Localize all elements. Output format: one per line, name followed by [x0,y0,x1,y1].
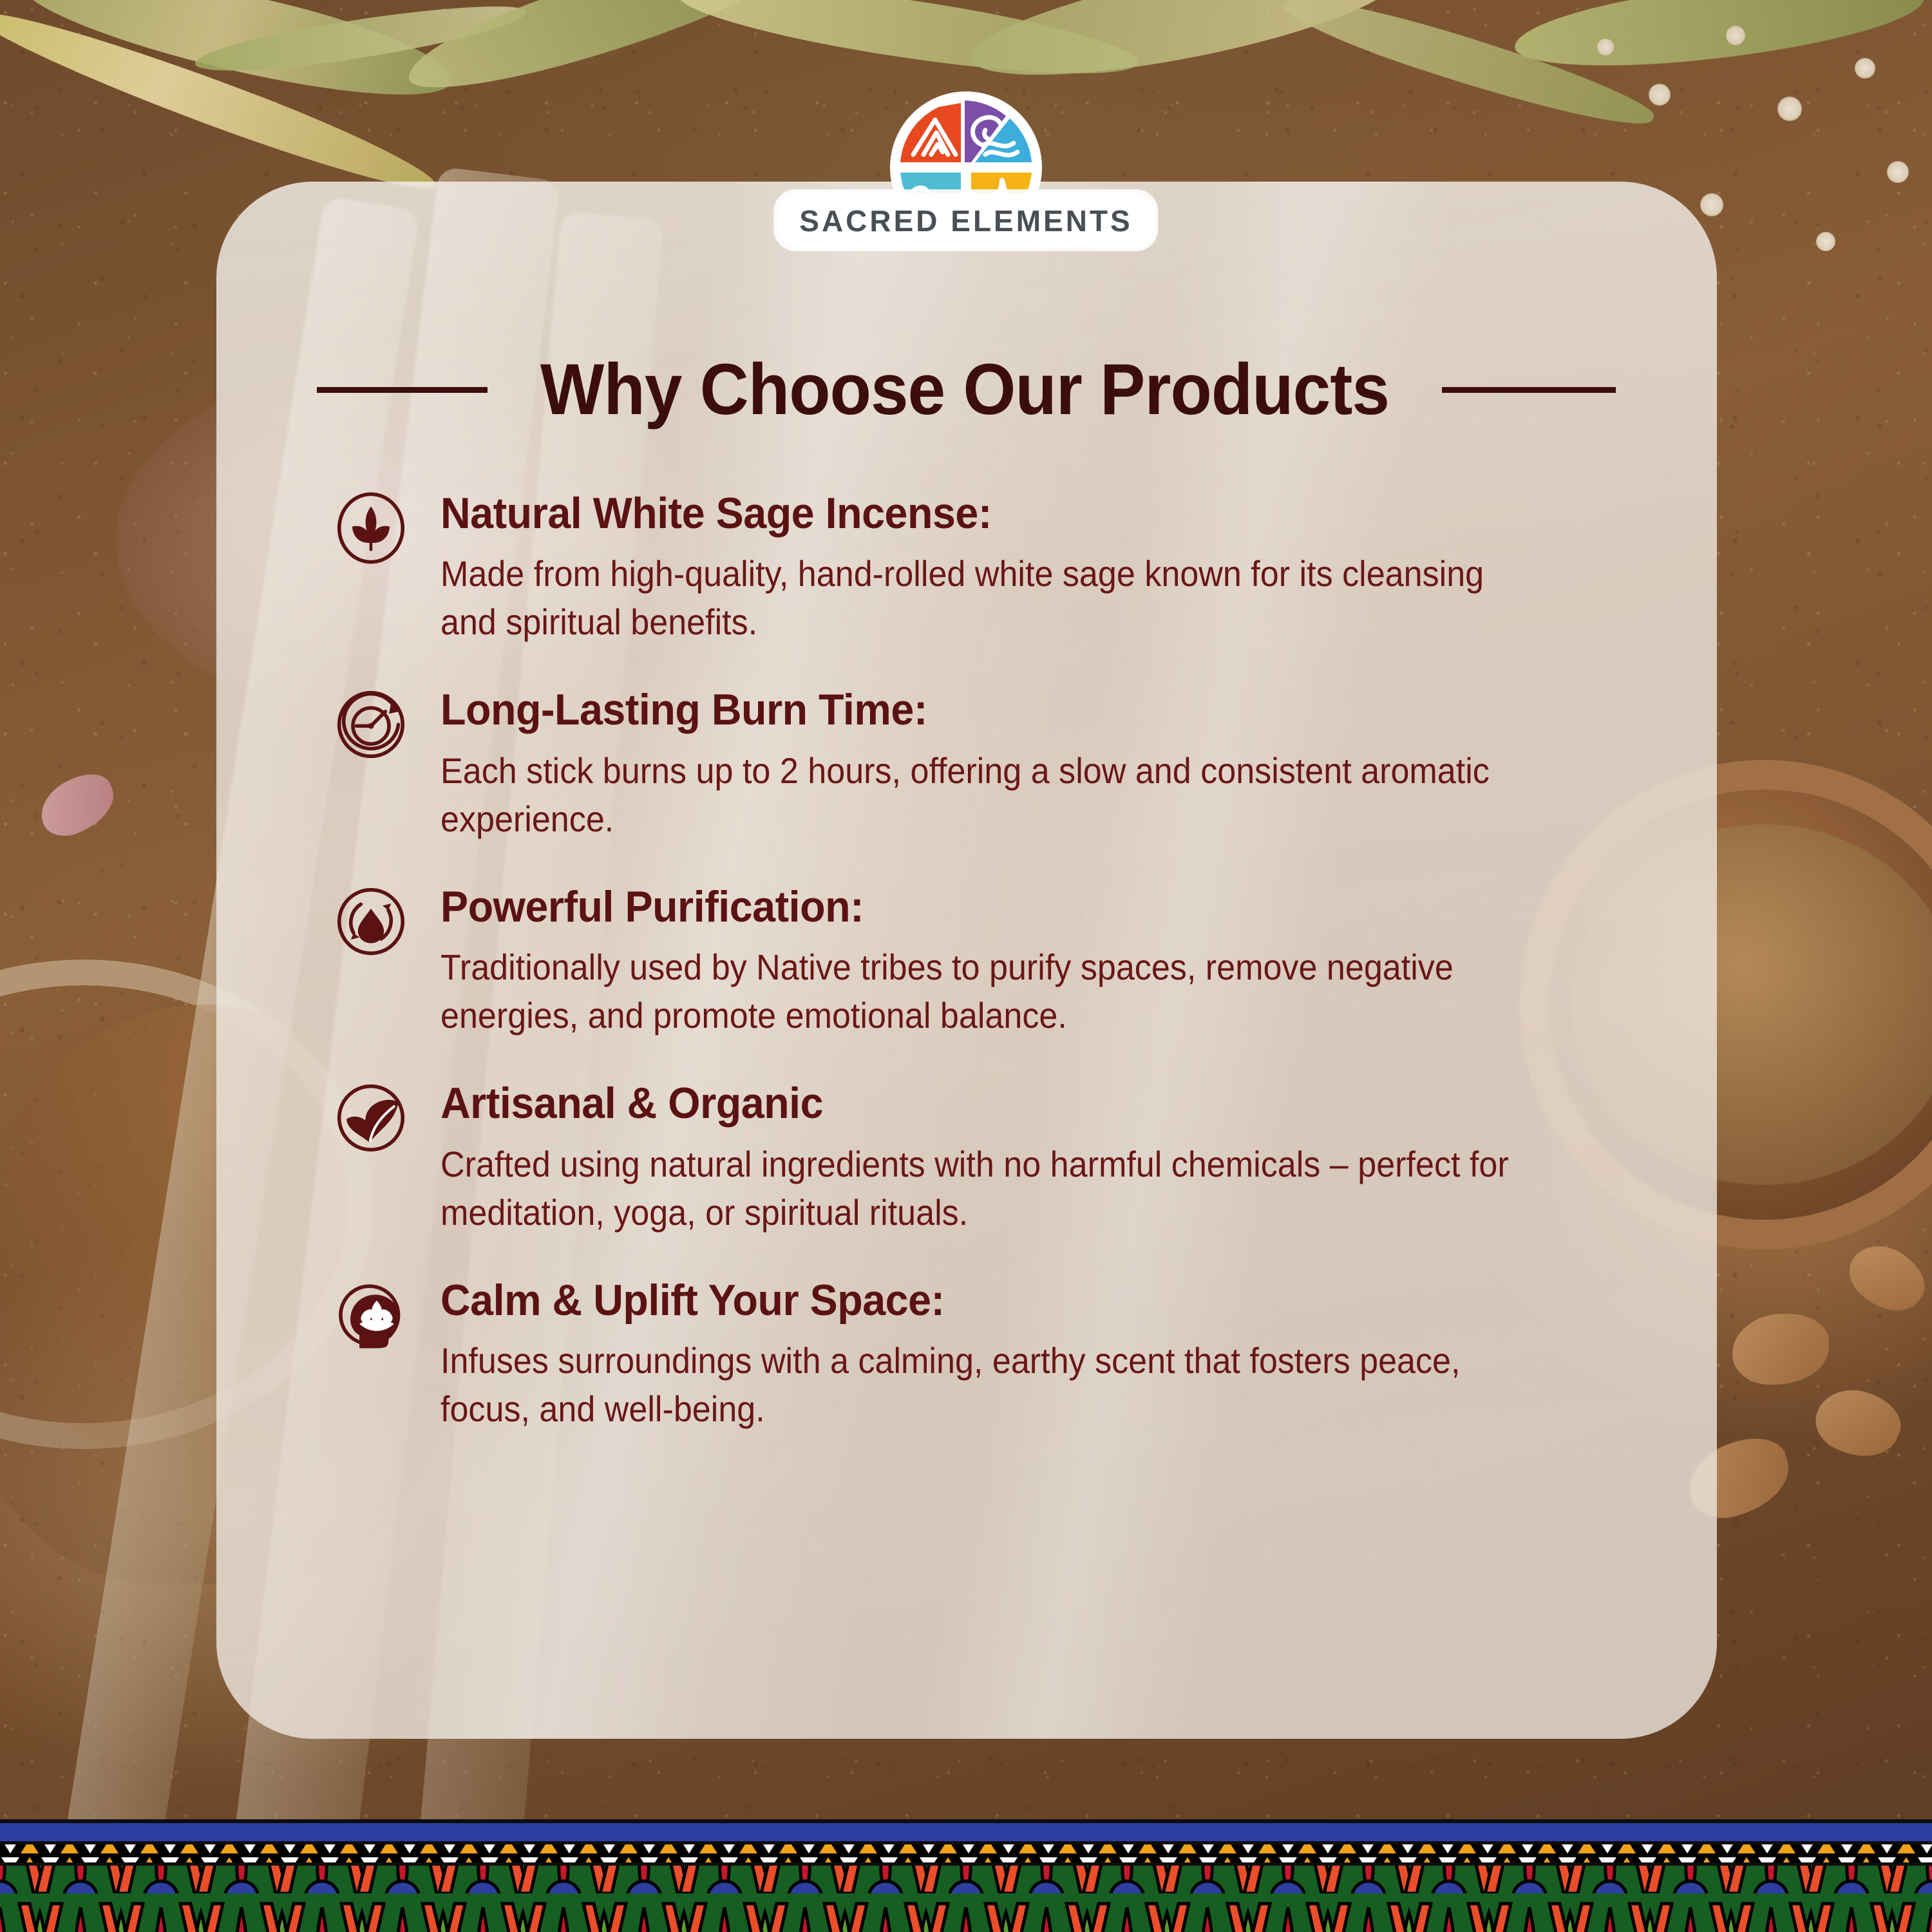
feature-title: Natural White Sage Incense: [440,491,1582,536]
madhubani-border-pattern [0,1819,1932,1932]
feature-title: Artisanal & Organic [440,1081,1582,1126]
feature-title: Calm & Uplift Your Space: [440,1278,1582,1323]
leaf-sprig-icon [335,492,407,564]
two-leaves-icon [335,1082,407,1154]
feature-item-calm-uplift-your-space: Calm & Uplift Your Space: Infuses surrou… [335,1276,1642,1433]
head-lotus-mind-icon [335,1279,407,1351]
water-drop-recycle-icon [335,885,407,958]
feature-description: Each stick burns up to 2 hours, offering… [440,746,1519,843]
feature-body: Long-Lasting Burn Time: Each stick burns… [440,686,1642,842]
page-title: Why Choose Our Products [540,354,1389,426]
brand-name-badge: SACRED ELEMENTS [777,193,1154,247]
feature-title: Powerful Purification: [440,884,1582,930]
clock-arrow-icon [335,688,407,761]
feature-description: Made from high-quality, hand-rolled whit… [440,549,1519,646]
page-title-row: Why Choose Our Products [0,348,1932,431]
brand-name: SACRED ELEMENTS [799,204,1132,238]
feature-description: Infuses surroundings with a calming, ear… [440,1336,1519,1433]
feature-item-powerful-purification: Powerful Purification: Traditionally use… [335,883,1642,1039]
feature-body: Natural White Sage Incense: Made from hi… [440,489,1642,646]
feature-item-long-lasting-burn-time: Long-Lasting Burn Time: Each stick burns… [335,686,1642,842]
feature-body: Artisanal & Organic Crafted using natura… [440,1079,1642,1236]
feature-body: Calm & Uplift Your Space: Infuses surrou… [440,1276,1642,1433]
feature-list: Natural White Sage Incense: Made from hi… [335,489,1642,1433]
feature-body: Powerful Purification: Traditionally use… [440,883,1642,1039]
feature-item-natural-white-sage: Natural White Sage Incense: Made from hi… [335,489,1642,646]
feature-title: Long-Lasting Burn Time: [440,687,1582,733]
decorative-bottom-border [0,1819,1932,1932]
title-rule-left [317,387,488,393]
feature-description: Crafted using natural ingredients with n… [440,1140,1519,1236]
feature-description: Traditionally used by Native tribes to p… [440,943,1519,1039]
title-rule-right [1442,387,1616,393]
feature-item-artisanal-organic: Artisanal & Organic Crafted using natura… [335,1079,1642,1236]
